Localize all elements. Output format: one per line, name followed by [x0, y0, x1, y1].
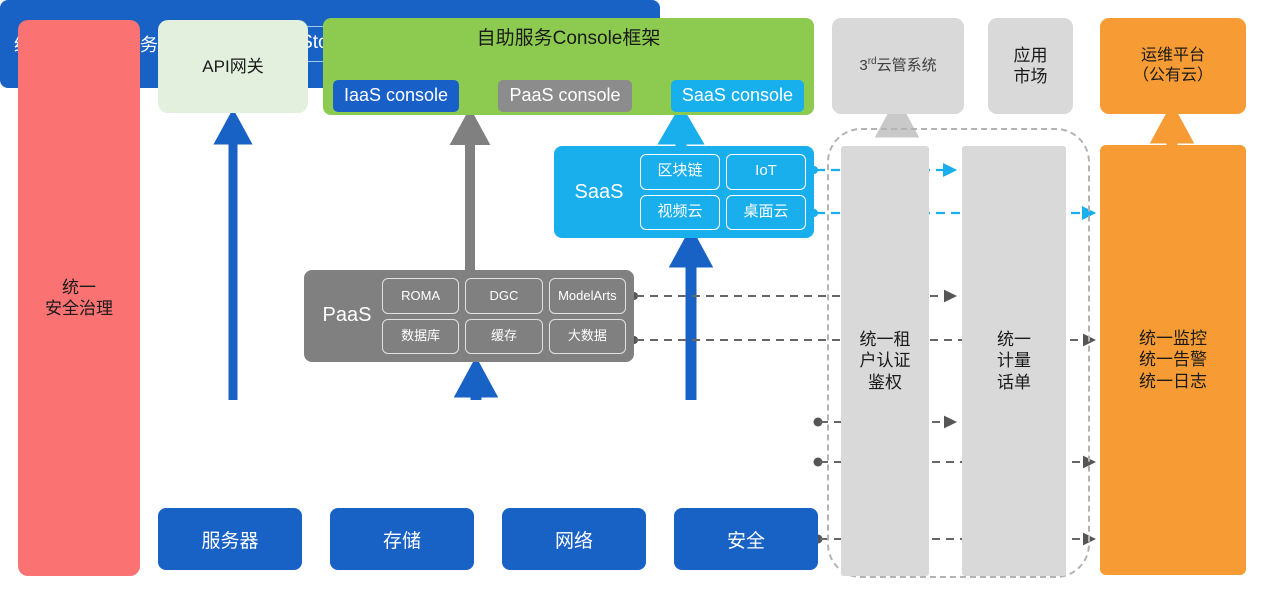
paas-layer-label: PaaS	[312, 303, 382, 328]
ops-platform-line2: （公有云）	[1133, 66, 1213, 86]
hardware-item-storage[interactable]: 存储	[330, 508, 474, 570]
iaas-console-badge[interactable]: IaaS console	[333, 80, 459, 112]
unified-billing-column[interactable]: 统一 计量 话单	[962, 146, 1066, 576]
api-gateway-box[interactable]: API网关	[158, 20, 308, 113]
ops-platform-line1: 运维平台	[1133, 46, 1213, 66]
paas-service-grid: ROMA DGC ModelArts 数据库 缓存 大数据	[382, 278, 626, 354]
hardware-item-server[interactable]: 服务器	[158, 508, 302, 570]
api-gateway-label: API网关	[202, 56, 263, 77]
architecture-diagram: 统一 安全治理 API网关 自助服务Console框架 IaaS console…	[0, 0, 1265, 605]
security-panel-line2: 安全治理	[45, 298, 113, 319]
hardware-server-label: 服务器	[201, 526, 258, 553]
saas-service-grid: 区块链 IoT 视频云 桌面云	[640, 154, 806, 230]
arrow-infra-to-paas	[463, 368, 489, 400]
paas-item-database[interactable]: 数据库	[382, 319, 459, 355]
hardware-storage-label: 存储	[383, 526, 421, 553]
console-framework-box[interactable]: 自助服务Console框架 IaaS console PaaS console …	[323, 18, 814, 115]
third-cloud-superscript: rd	[868, 56, 877, 67]
console-framework-title: 自助服务Console框架	[323, 27, 814, 51]
ops-monitor-panel[interactable]: 统一监控 统一告警 统一日志	[1100, 145, 1246, 575]
paas-item-dgc[interactable]: DGC	[465, 278, 542, 314]
ops-monitor-line1: 统一监控	[1139, 328, 1207, 349]
security-governance-panel[interactable]: 统一 安全治理	[18, 20, 140, 576]
saas-item-desktop-cloud[interactable]: 桌面云	[726, 195, 806, 231]
billing-line3: 话单	[997, 372, 1031, 393]
third-party-cloud-mgmt-box[interactable]: 3rd云管系统	[832, 18, 964, 114]
paas-item-roma[interactable]: ROMA	[382, 278, 459, 314]
auth-line2: 户认证	[860, 350, 911, 371]
security-panel-line1: 统一	[45, 277, 113, 298]
billing-line1: 统一	[997, 329, 1031, 350]
hardware-network-label: 网络	[555, 526, 593, 553]
saas-console-badge[interactable]: SaaS console	[671, 80, 804, 112]
app-market-line1: 应用	[1014, 45, 1048, 66]
paas-console-badge[interactable]: PaaS console	[498, 80, 631, 112]
saas-item-iot[interactable]: IoT	[726, 154, 806, 190]
paas-layer-box[interactable]: PaaS ROMA DGC ModelArts 数据库 缓存 大数据	[304, 270, 634, 362]
arrow-paas-to-console	[458, 118, 482, 270]
app-market-line2: 市场	[1014, 66, 1048, 87]
third-cloud-label: 3rd云管系统	[859, 56, 936, 76]
saas-item-video-cloud[interactable]: 视频云	[640, 195, 720, 231]
arrow-infra-to-api-gateway	[221, 118, 245, 400]
saas-item-blockchain[interactable]: 区块链	[640, 154, 720, 190]
hardware-item-security[interactable]: 安全	[674, 508, 818, 570]
app-market-box[interactable]: 应用 市场	[988, 18, 1073, 114]
ops-platform-box[interactable]: 运维平台 （公有云）	[1100, 18, 1246, 114]
console-badge-row: IaaS console PaaS console SaaS console	[333, 80, 804, 112]
paas-item-bigdata[interactable]: 大数据	[549, 319, 626, 355]
hardware-security-label: 安全	[727, 526, 765, 553]
arrow-saas-to-console	[667, 115, 695, 146]
paas-item-modelarts[interactable]: ModelArts	[549, 278, 626, 314]
saas-layer-box[interactable]: SaaS 区块链 IoT 视频云 桌面云	[554, 146, 814, 238]
unified-tenant-auth-column[interactable]: 统一租 户认证 鉴权	[841, 146, 929, 576]
billing-line2: 计量	[997, 350, 1031, 371]
paas-item-cache[interactable]: 缓存	[465, 319, 542, 355]
hardware-item-network[interactable]: 网络	[502, 508, 646, 570]
saas-layer-label: SaaS	[564, 180, 634, 205]
arrow-infra-to-saas	[678, 238, 704, 400]
arrow-monitor-to-ops-platform	[1159, 114, 1185, 145]
ops-monitor-line3: 统一日志	[1139, 371, 1207, 392]
auth-line3: 鉴权	[860, 372, 911, 393]
ops-monitor-line2: 统一告警	[1139, 349, 1207, 370]
auth-line1: 统一租	[860, 329, 911, 350]
